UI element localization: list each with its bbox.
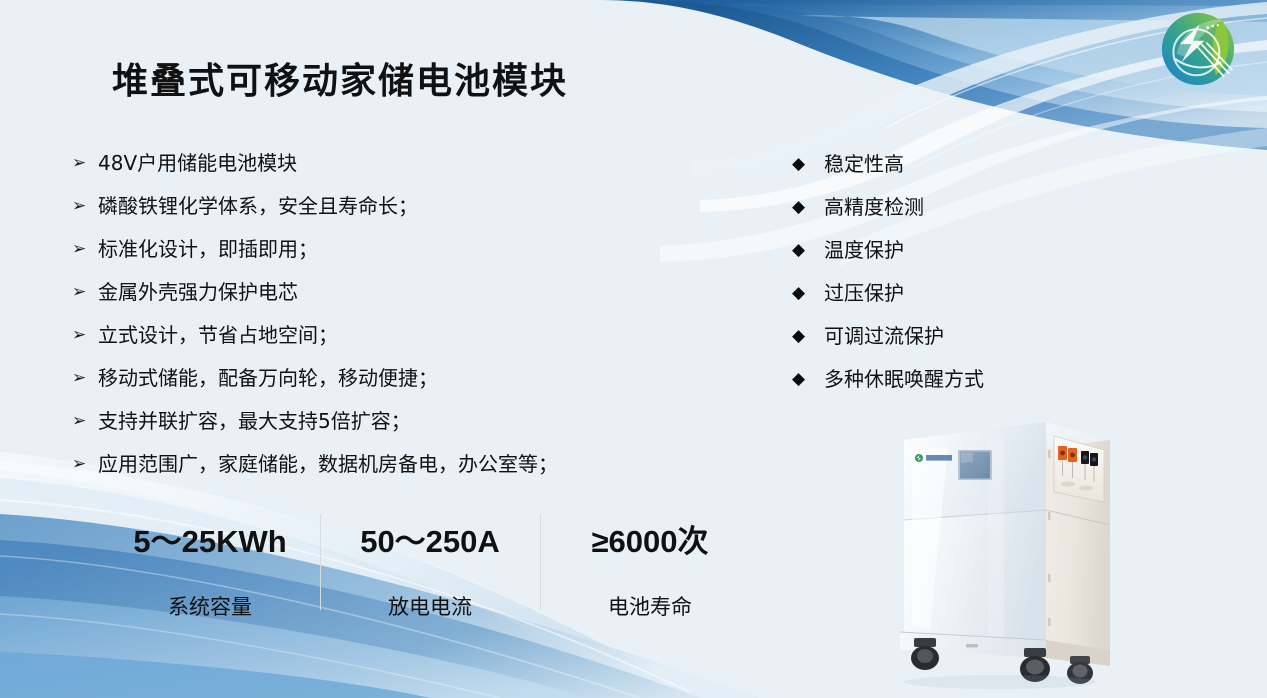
diamond-bullet-icon: ◆ [792,365,824,394]
stat-battery-life: ≥6000次 电池寿命 [540,512,760,612]
protection-label: 过压保护 [824,279,904,308]
protection-list: ◆ 稳定性高 ◆ 高精度检测 ◆ 温度保护 ◆ 过压保护 ◆ 可调过流保护 ◆ … [792,150,1072,408]
stat-label: 电池寿命 [540,591,760,621]
feature-list: ➢ 48V户用储能电池模块 ➢ 磷酸铁锂化学体系，安全且寿命长； ➢ 标准化设计… [72,148,712,492]
list-item: ◆ 稳定性高 [792,150,1072,193]
spec-stats-row: 5～25KWh 系统容量 50～250A 放电电流 ≥6000次 电池寿命 [100,512,760,612]
arrow-bullet-icon: ➢ [72,191,98,221]
page-title: 堆叠式可移动家储电池模块 [112,52,568,104]
list-item: ➢ 应用范围广，家庭储能，数据机房备电，办公室等； [72,449,712,492]
protection-label: 稳定性高 [824,150,904,179]
arrow-bullet-icon: ➢ [72,277,98,307]
diamond-bullet-icon: ◆ [792,322,824,351]
product-image-battery-cabinet [878,392,1128,692]
list-item: ➢ 48V户用储能电池模块 [72,148,712,191]
protection-label: 多种休眠唤醒方式 [824,365,984,394]
feature-label: 标准化设计，即插即用； [98,234,318,264]
product-lcd-display [958,450,992,480]
stat-discharge-current: 50～250A 放电电流 [320,512,540,612]
diamond-bullet-icon: ◆ [792,236,824,265]
stat-value: 50～250A [320,526,540,557]
list-item: ◆ 过压保护 [792,279,1072,322]
feature-label: 移动式储能，配备万向轮，移动便捷； [98,363,438,393]
stat-label: 系统容量 [100,591,320,621]
diamond-bullet-icon: ◆ [792,150,824,179]
diamond-bullet-icon: ◆ [792,193,824,222]
feature-label: 立式设计，节省占地空间； [98,320,338,350]
arrow-bullet-icon: ➢ [72,148,98,178]
list-item: ➢ 立式设计，节省占地空间； [72,320,712,363]
list-item: ➢ 磷酸铁锂化学体系，安全且寿命长； [72,191,712,234]
stat-system-capacity: 5～25KWh 系统容量 [100,512,320,612]
protection-label: 可调过流保护 [824,322,944,351]
list-item: ◆ 高精度检测 [792,193,1072,236]
feature-label: 磷酸铁锂化学体系，安全且寿命长； [98,191,418,221]
list-item: ➢ 标准化设计，即插即用； [72,234,712,277]
arrow-bullet-icon: ➢ [72,363,98,393]
diamond-bullet-icon: ◆ [792,279,824,308]
arrow-bullet-icon: ➢ [72,320,98,350]
list-item: ◆ 温度保护 [792,236,1072,279]
list-item: ➢ 金属外壳强力保护电芯 [72,277,712,320]
arrow-bullet-icon: ➢ [72,234,98,264]
feature-label: 应用范围广，家庭储能，数据机房备电，办公室等； [98,449,558,479]
stat-label: 放电电流 [320,591,540,621]
feature-label: 金属外壳强力保护电芯 [98,277,298,307]
company-logo [1157,8,1239,90]
list-item: ◆ 可调过流保护 [792,322,1072,365]
arrow-bullet-icon: ➢ [72,406,98,436]
feature-label: 48V户用储能电池模块 [98,148,297,178]
arrow-bullet-icon: ➢ [72,449,98,479]
list-item: ➢ 移动式储能，配备万向轮，移动便捷； [72,363,712,406]
stat-value: 5～25KWh [100,526,320,557]
list-item: ➢ 支持并联扩容，最大支持5倍扩容； [72,406,712,449]
protection-label: 高精度检测 [824,193,924,222]
slide-canvas: 堆叠式可移动家储电池模块 ➢ 48V户用储能电池模块 ➢ 磷酸铁锂化学体系，安全… [0,0,1267,698]
feature-label: 支持并联扩容，最大支持5倍扩容； [98,406,411,436]
protection-label: 温度保护 [824,236,904,265]
stat-value: ≥6000次 [540,526,760,557]
